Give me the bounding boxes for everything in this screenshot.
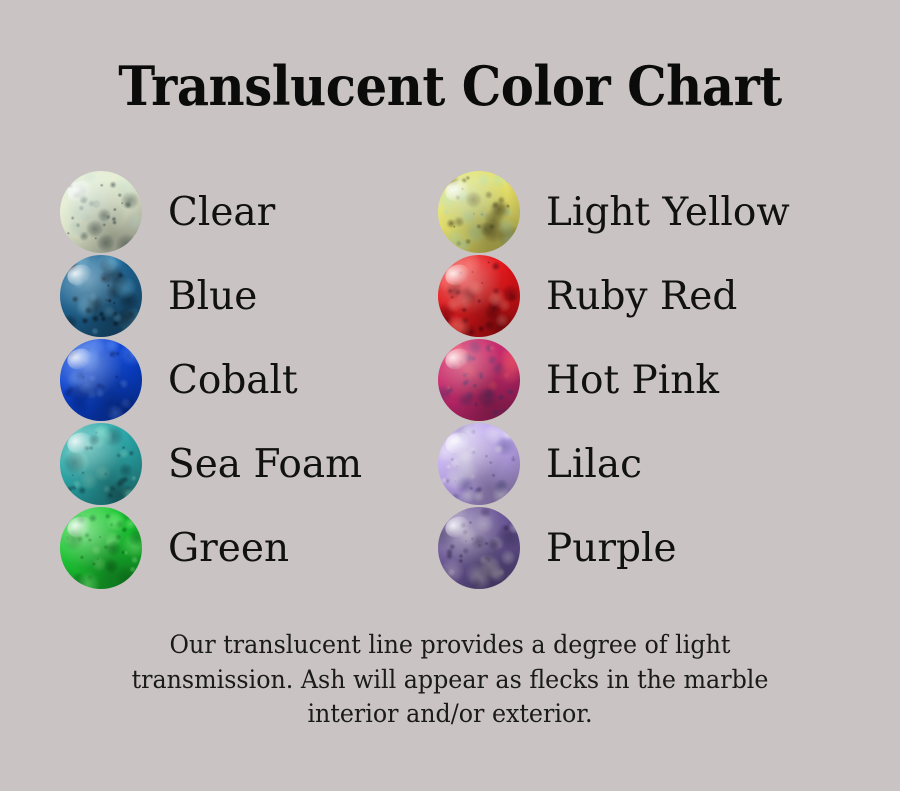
swatch-row[interactable]: Cobalt <box>60 338 480 422</box>
swatch-label: Green <box>168 529 289 568</box>
swatch-row[interactable]: Blue <box>60 254 480 338</box>
swatch-row[interactable]: Sea Foam <box>60 422 480 506</box>
marble-swatch-icon <box>438 171 520 253</box>
marble-swatch-icon <box>438 507 520 589</box>
marble-swatch-icon <box>438 255 520 337</box>
swatch-label: Sea Foam <box>168 445 362 484</box>
page-title: Translucent Color Chart <box>36 58 864 115</box>
swatch-row[interactable]: Clear <box>60 170 480 254</box>
swatch-row[interactable]: Hot Pink <box>438 338 858 422</box>
swatch-column-right: Light Yellow Ruby Red Hot Pink Lilac Pur… <box>438 170 858 590</box>
color-swatch-grid: Clear Blue Cobalt Sea Foam Green <box>0 170 900 602</box>
marble-swatch-icon <box>438 339 520 421</box>
swatch-column-left: Clear Blue Cobalt Sea Foam Green <box>60 170 480 590</box>
swatch-row[interactable]: Lilac <box>438 422 858 506</box>
marble-swatch-icon <box>60 339 142 421</box>
swatch-row[interactable]: Green <box>60 506 480 590</box>
swatch-label: Purple <box>546 529 677 568</box>
swatch-label: Clear <box>168 193 275 232</box>
swatch-row[interactable]: Light Yellow <box>438 170 858 254</box>
marble-swatch-icon <box>60 423 142 505</box>
swatch-row[interactable]: Ruby Red <box>438 254 858 338</box>
footer-note: Our translucent line provides a degree o… <box>118 628 783 732</box>
swatch-row[interactable]: Purple <box>438 506 858 590</box>
swatch-label: Blue <box>168 277 257 316</box>
swatch-label: Light Yellow <box>546 193 790 232</box>
marble-swatch-icon <box>438 423 520 505</box>
marble-swatch-icon <box>60 255 142 337</box>
swatch-label: Hot Pink <box>546 361 719 400</box>
marble-swatch-icon <box>60 507 142 589</box>
swatch-label: Cobalt <box>168 361 298 400</box>
swatch-label: Lilac <box>546 445 642 484</box>
marble-swatch-icon <box>60 171 142 253</box>
translucent-color-chart-page: Translucent Color Chart Clear Blue Cobal… <box>0 0 900 791</box>
swatch-label: Ruby Red <box>546 277 737 316</box>
